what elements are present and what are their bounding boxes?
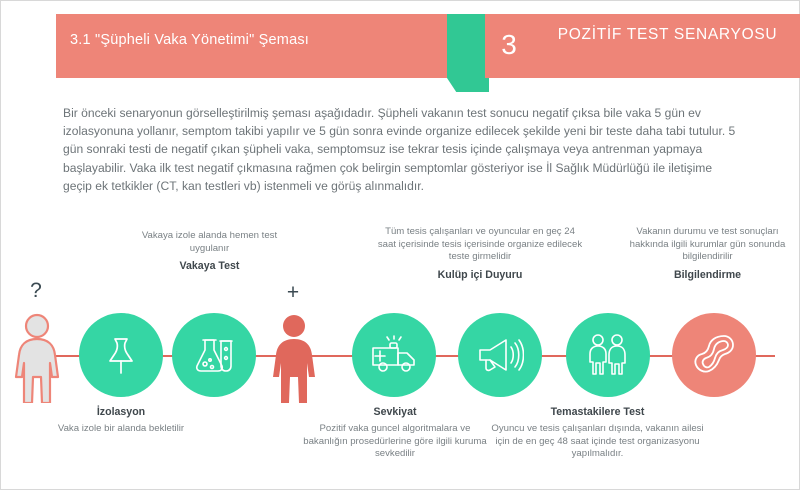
timeline-node-vakaya-test[interactable]	[172, 313, 256, 397]
scenario-title: POZİTİF TEST SENARYOSU	[545, 26, 790, 44]
label-izolasyon: İzolasyon Vaka izole bir alanda bekletil…	[36, 405, 206, 436]
label-duyuru-title: Kulüp içi Duyuru	[375, 268, 585, 283]
plus-marker: +	[278, 282, 308, 303]
label-temastakilere-test-title: Temastakilere Test	[490, 405, 705, 420]
label-izolasyon-desc: Vaka izole bir alanda bekletilir	[36, 423, 206, 436]
slide-page: 3.1 "Şüpheli Vaka Yönetimi" Şeması 3 POZ…	[0, 0, 800, 490]
label-bilgilendirme-desc: Vakanın durumu ve test sonuçları hakkınd…	[625, 226, 790, 264]
timeline-node-sevkiyat[interactable]	[352, 313, 436, 397]
timeline-node-duyuru[interactable]	[458, 313, 542, 397]
positive-person-figure	[265, 311, 323, 403]
process-timeline: ? İzolasyon Vaka	[0, 225, 800, 490]
section-number: 3	[489, 25, 529, 65]
timeline-node-bilgilendirme[interactable]	[672, 313, 756, 397]
label-vakaya-test-desc: Vakaya izole alanda hemen test uygulanır	[132, 230, 287, 255]
label-temastakilere-test: Temastakilere Test Oyuncu ve tesis çalış…	[490, 405, 705, 461]
label-izolasyon-title: İzolasyon	[36, 405, 206, 420]
lab-flask-icon	[192, 333, 236, 377]
intro-block: Bir önceki senaryonun görselleştirilmiş …	[63, 104, 743, 195]
phone-icon	[691, 332, 737, 378]
intro-paragraph: Bir önceki senaryonun görselleştirilmiş …	[63, 104, 743, 195]
label-sevkiyat: Sevkiyat Pozitif vaka guncel algoritmala…	[300, 405, 490, 461]
label-sevkiyat-desc: Pozitif vaka guncel algoritmalara ve bak…	[300, 423, 490, 461]
header-green-wedge	[447, 14, 489, 92]
section-title: 3.1 "Şüpheli Vaka Yönetimi" Şeması	[70, 32, 450, 48]
question-marker: ?	[21, 280, 51, 301]
label-temastakilere-test-desc: Oyuncu ve tesis çalışanları dışında, vak…	[490, 423, 705, 461]
label-duyuru: Tüm tesis çalışanları ve oyuncular en ge…	[375, 226, 585, 283]
timeline-node-izolasyon[interactable]	[79, 313, 163, 397]
slide-header: 3.1 "Şüpheli Vaka Yönetimi" Şeması 3 POZ…	[0, 0, 800, 95]
label-bilgilendirme-title: Bilgilendirme	[625, 268, 790, 283]
header-right-bar	[485, 14, 800, 78]
label-duyuru-desc: Tüm tesis çalışanları ve oyuncular en ge…	[375, 226, 585, 264]
label-vakaya-test-title: Vakaya Test	[132, 259, 287, 274]
label-vakaya-test: Vakaya izole alanda hemen test uygulanır…	[132, 230, 287, 274]
ambulance-icon	[370, 334, 418, 376]
suspect-person-figure	[8, 311, 66, 403]
timeline-node-temastakilere-test[interactable]	[566, 313, 650, 397]
megaphone-icon	[476, 334, 524, 376]
pin-icon	[101, 334, 141, 376]
label-bilgilendirme: Vakanın durumu ve test sonuçları hakkınd…	[625, 226, 790, 283]
label-sevkiyat-title: Sevkiyat	[300, 405, 490, 420]
two-people-icon	[584, 332, 632, 378]
